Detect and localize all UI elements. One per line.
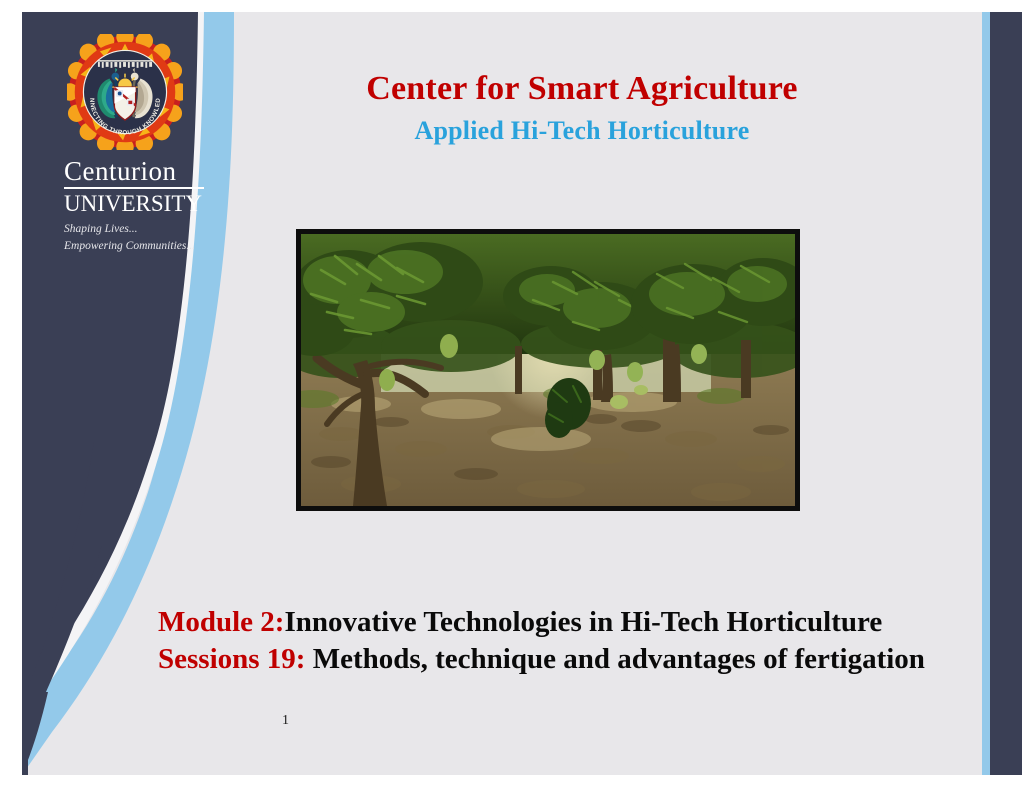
university-wordmark: Centurion UNIVERSITY Shaping Lives... Em… bbox=[40, 158, 210, 255]
tagline-line-2: Empowering Communities... bbox=[64, 240, 195, 252]
slide-body-text: Module 2:Innovative Technologies in Hi-T… bbox=[158, 604, 958, 678]
module-text: Innovative Technologies in Hi-Tech Horti… bbox=[284, 606, 882, 638]
wordmark-tagline: Shaping Lives... Empowering Communities.… bbox=[40, 221, 210, 256]
slide-canvas: CONNECTING THROUGH KNOWLEDGE Centurion U… bbox=[22, 12, 1022, 775]
wordmark-divider bbox=[64, 187, 204, 189]
session-text: Methods, technique and advantages of fer… bbox=[313, 643, 925, 675]
slide-number: 1 bbox=[282, 713, 289, 729]
module-label: Module 2: bbox=[158, 606, 284, 638]
mango-orchard-photo bbox=[296, 229, 800, 511]
right-navy-accent-bar bbox=[990, 12, 1022, 775]
orchard-illustration bbox=[301, 234, 795, 506]
university-seal-icon: CONNECTING THROUGH KNOWLEDGE bbox=[67, 34, 183, 150]
tagline-line-1: Shaping Lives... bbox=[64, 223, 137, 235]
wordmark-centurion: Centurion bbox=[40, 158, 210, 185]
page-subtitle: Applied Hi-Tech Horticulture bbox=[272, 116, 892, 146]
right-blue-accent-bar bbox=[982, 12, 990, 775]
wordmark-university: UNIVERSITY bbox=[40, 192, 210, 215]
university-branding-block: CONNECTING THROUGH KNOWLEDGE Centurion U… bbox=[40, 34, 210, 255]
page-title: Center for Smart Agriculture bbox=[272, 70, 892, 108]
session-label: Sessions 19: bbox=[158, 643, 305, 675]
